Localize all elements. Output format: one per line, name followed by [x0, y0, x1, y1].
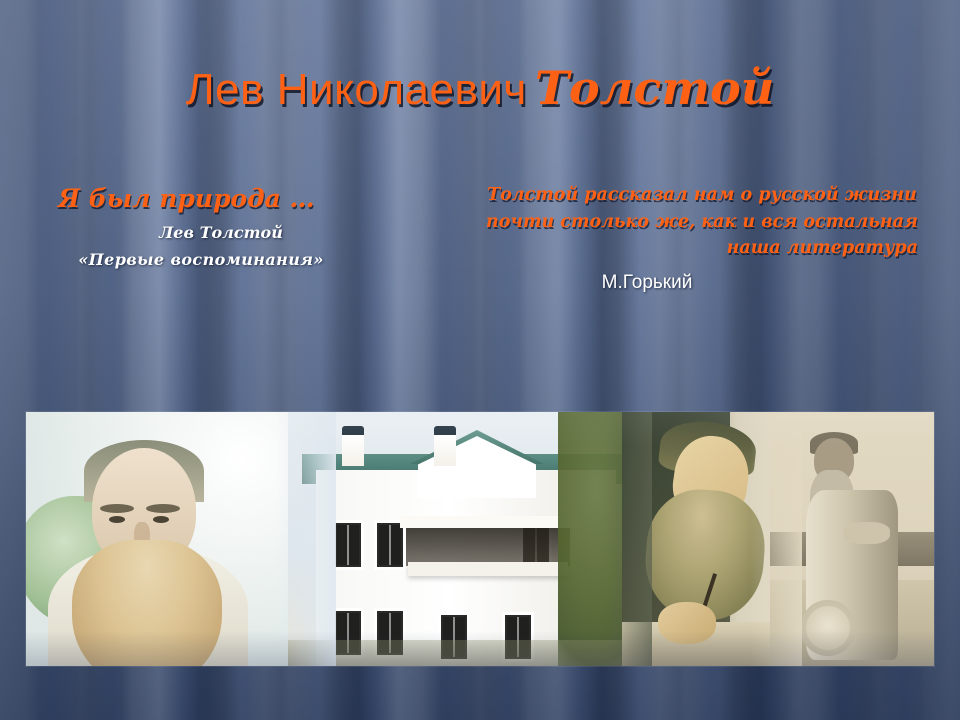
title-surname-part: Толстой	[535, 61, 774, 115]
right-quote-line-3: наша литература	[486, 235, 918, 262]
house-chimney-right	[434, 426, 456, 466]
slide-title: Лев НиколаевичТолстой	[0, 64, 960, 113]
photo-arm	[844, 522, 890, 544]
presentation-slide: Лев НиколаевичТолстой Я был природа … Ле…	[0, 0, 960, 720]
left-quote-author: Лев Толстой	[76, 223, 366, 242]
house-window-1	[332, 520, 364, 570]
collage-pane-portrait	[26, 412, 326, 666]
left-quote-source: «Первые воспоминания»	[36, 250, 366, 269]
right-quote-line-2: почти столько же, как и вся остальная	[486, 209, 918, 236]
photo-hat	[800, 600, 856, 656]
photo-collage	[26, 412, 934, 666]
quote-block-right: Толстой рассказал нам о русской жизни по…	[486, 182, 918, 294]
title-name-part: Лев Николаевич	[186, 65, 527, 114]
left-quote-headline: Я был природа …	[58, 184, 366, 213]
collage-pane-photograph	[770, 412, 934, 666]
house-chimney-left	[342, 426, 364, 466]
portrait-brow-left	[100, 504, 134, 513]
house-balcony-canopy	[400, 516, 578, 528]
portrait-eye-right	[153, 516, 169, 523]
collage-pane-house	[288, 412, 660, 666]
right-quote-author: М.Горький	[486, 272, 918, 294]
house-balcony-floor	[408, 562, 568, 576]
right-quote-text: Толстой рассказал нам о русской жизни по…	[486, 182, 918, 262]
right-quote-line-1: Толстой рассказал нам о русской жизни	[486, 182, 918, 209]
portrait-eye-left	[109, 516, 125, 523]
writing-hand	[658, 602, 716, 644]
house-ground	[288, 640, 660, 666]
portrait-beard	[72, 540, 222, 666]
portrait-brow-right	[146, 504, 180, 513]
quote-block-left: Я был природа … Лев Толстой «Первые восп…	[36, 184, 366, 277]
house-balcony-doors	[406, 528, 570, 566]
